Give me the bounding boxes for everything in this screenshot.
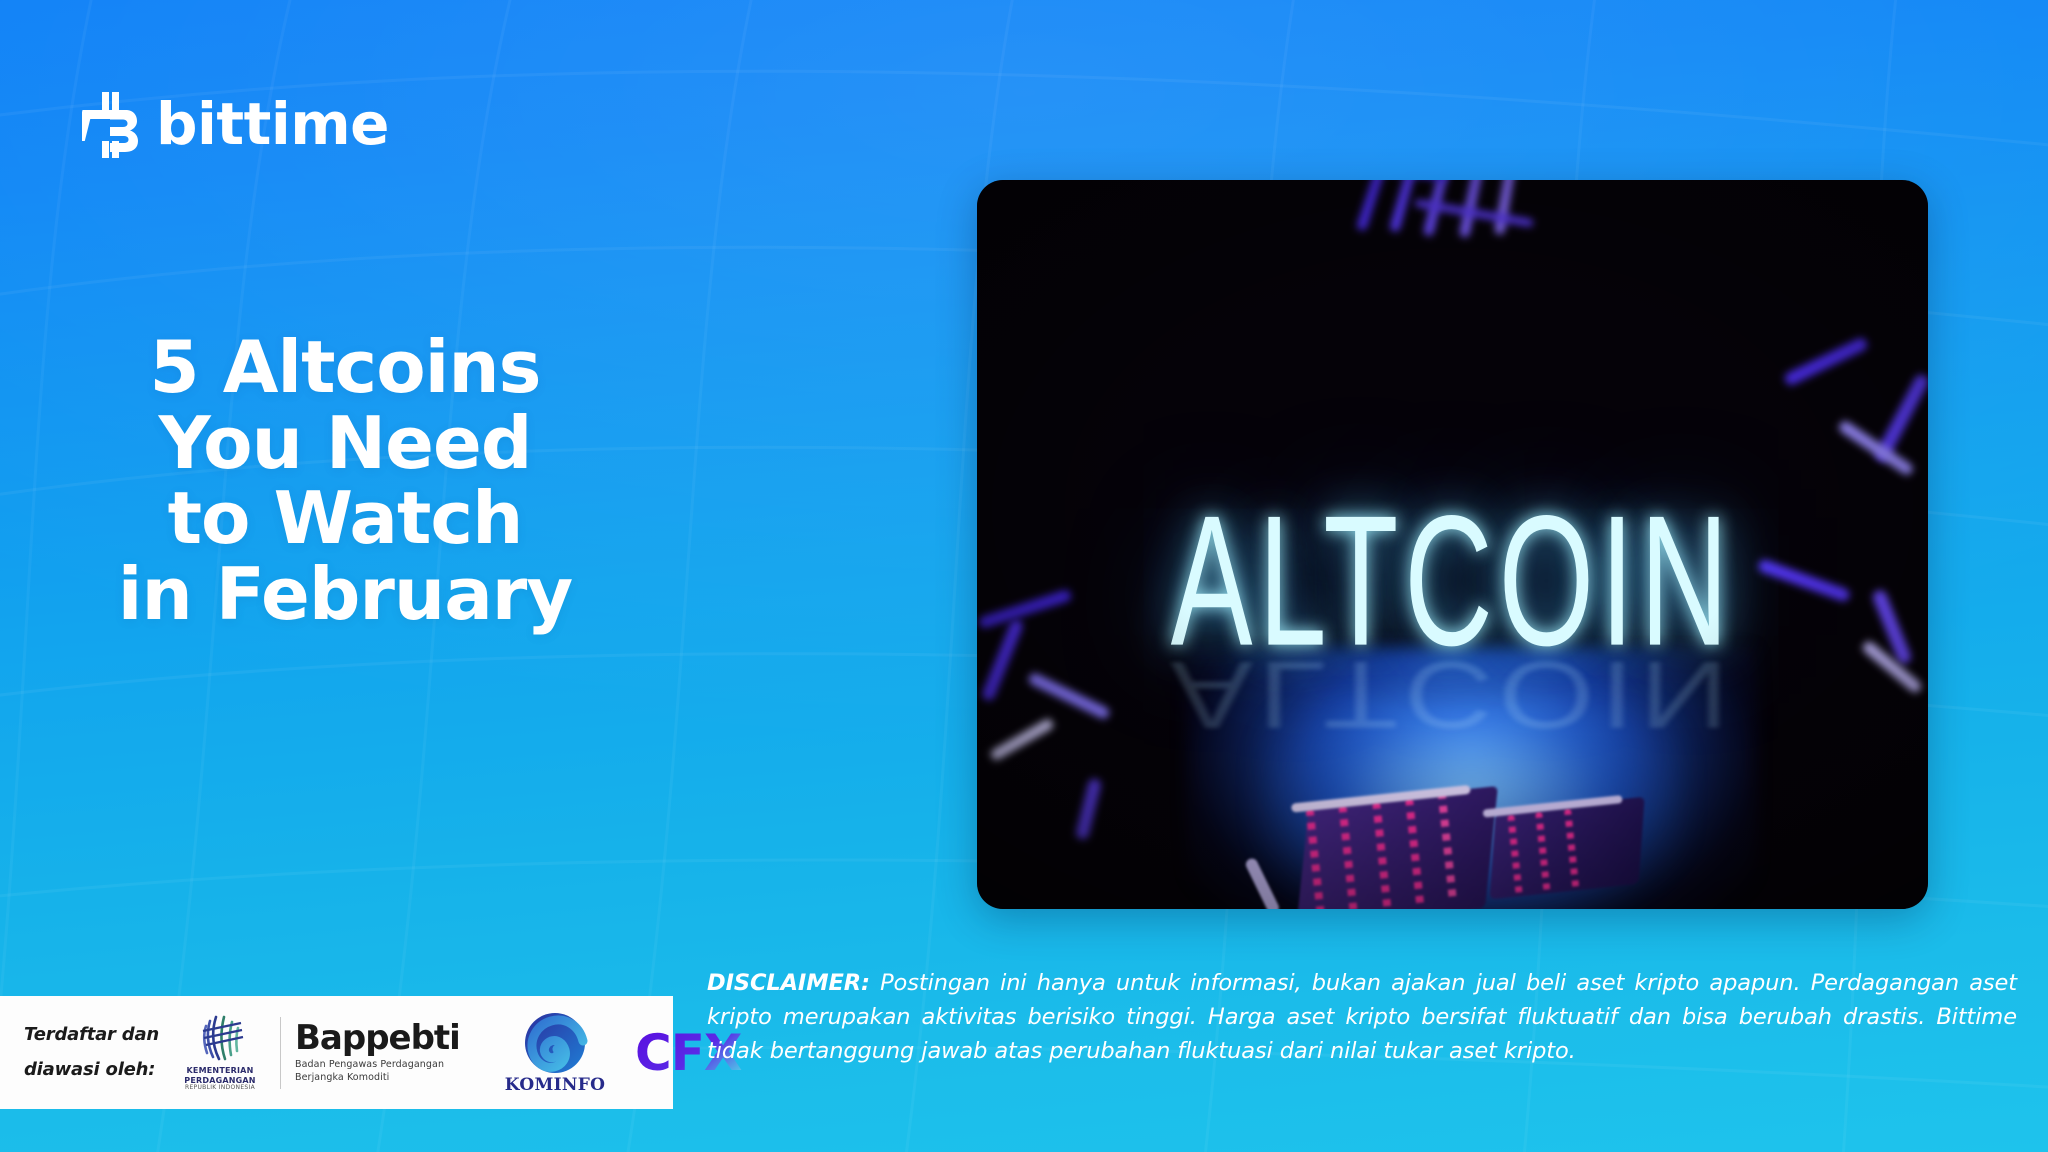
photo-scene: ALTCOIN ALTCOIN <box>977 180 1928 909</box>
promo-banner: bittime 5 Altcoins You Need to Watch in … <box>0 0 2048 1152</box>
badge-divider <box>280 1017 281 1089</box>
regulator-badge-bar: Terdaftar dan diawasi oleh: <box>0 996 673 1109</box>
kominfo-label: KOMINFO <box>497 1075 613 1095</box>
disclaimer-label: DISCLAIMER: <box>707 970 870 996</box>
kemendag-badge: KEMENTERIAN PERDAGANGAN REPUBLIK INDONES… <box>174 1013 266 1091</box>
kominfo-logo-icon <box>517 1011 593 1079</box>
headline-line-2: You Need <box>0 406 690 482</box>
bittime-logo[interactable]: bittime <box>82 88 389 160</box>
disclaimer-text: DISCLAIMER: Postingan ini hanya untuk in… <box>707 966 2017 1069</box>
headline-line-4: in February <box>0 557 690 633</box>
disclaimer-body: Postingan ini hanya untuk informasi, buk… <box>707 970 2017 1064</box>
kominfo-badge: KOMINFO <box>497 1011 613 1095</box>
bappebti-desc-line-1: Badan Pengawas Perdagangan <box>295 1059 491 1072</box>
bappebti-badge: Bappebti Badan Pengawas Perdagangan Berj… <box>295 1021 491 1085</box>
page-title: 5 Altcoins You Need to Watch in February <box>0 330 690 632</box>
bittime-logo-text: bittime <box>156 95 389 153</box>
bappebti-description: Badan Pengawas Perdagangan Berjangka Kom… <box>295 1059 491 1085</box>
bappebti-name: Bappebti <box>295 1021 491 1055</box>
photo-vignette <box>977 180 1928 909</box>
kemendag-line-1: KEMENTERIAN <box>174 1066 266 1075</box>
bittime-bitcoin-b-icon <box>82 88 138 160</box>
bappebti-desc-line-2: Berjangka Komoditi <box>295 1072 491 1085</box>
registered-supervised-label: Terdaftar dan diawasi oleh: <box>24 1018 174 1086</box>
headline-line-3: to Watch <box>0 481 690 557</box>
registered-line-2: diawasi oleh: <box>24 1053 174 1087</box>
kementerian-perdagangan-logo-icon <box>183 1013 257 1063</box>
headline-line-1: 5 Altcoins <box>0 330 690 406</box>
registered-line-1: Terdaftar dan <box>24 1018 174 1052</box>
altcoin-photo-card: ALTCOIN ALTCOIN <box>977 180 1928 909</box>
kemendag-line-3: REPUBLIK INDONESIA <box>174 1085 266 1092</box>
kemendag-caption: KEMENTERIAN PERDAGANGAN REPUBLIK INDONES… <box>174 1066 266 1091</box>
